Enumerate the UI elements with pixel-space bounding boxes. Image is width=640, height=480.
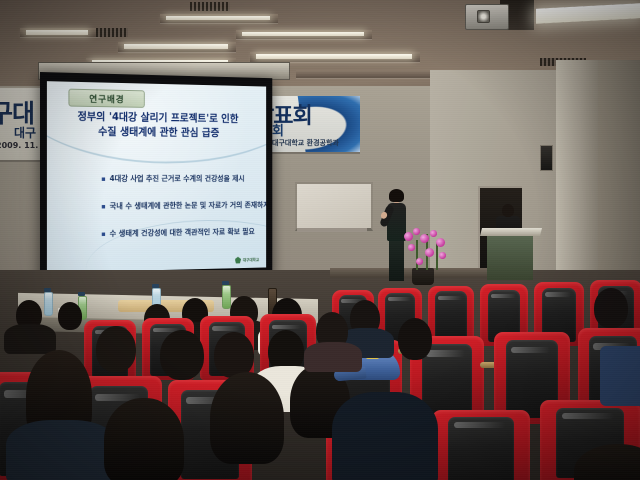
orchid-bloom (439, 252, 446, 259)
seat-highlight (212, 326, 240, 330)
projector-lens-icon (477, 10, 490, 23)
seat-highlight (545, 292, 571, 296)
orchid-bloom (413, 228, 420, 235)
audience-head (58, 302, 82, 330)
audience-head (398, 318, 432, 360)
seat-highlight (562, 413, 614, 419)
orchid-pot (412, 268, 434, 285)
audience-shoulders (6, 420, 118, 480)
orchid-stem (416, 240, 418, 270)
ceiling-light (166, 16, 270, 20)
banner-right-org: 대구대학교 환경공학과 (272, 138, 339, 148)
seat-highlight (388, 297, 411, 301)
ceiling-light (256, 54, 412, 59)
orchid-bloom (408, 244, 415, 251)
audience-shoulders (332, 392, 438, 480)
projection-screen: 연구배경 정부의 '4대강 살리기 프로젝트'로 인한 수질 생태계에 관한 관… (40, 72, 272, 282)
lecture-hall-photo: 구대 대구 2009. 11. 20(금) 발표회 표회 대구대학교 환경공학과… (0, 0, 640, 480)
seat-highlight (438, 296, 462, 300)
bottle-cap (222, 281, 229, 285)
slide-title-line-1: 정부의 '4대강 살리기 프로젝트'로 인한 (47, 109, 266, 127)
audience-head (160, 330, 204, 380)
slide-section-tag: 연구배경 (68, 89, 144, 108)
orchid-bloom (404, 232, 413, 241)
bottle-cap (152, 284, 159, 288)
ceiling-vent (190, 2, 230, 11)
ceiling-panel (296, 70, 446, 78)
orchid-plant (392, 228, 454, 286)
slide-logo-label: 대구대학교 (243, 257, 259, 263)
audience-head (594, 288, 628, 328)
slide-bullet: 국내 수 생태계에 관한한 논문 및 자료가 거의 존재하지 않음 (101, 199, 266, 211)
audience-shoulders (304, 342, 362, 372)
whiteboard (295, 182, 373, 231)
audience-head (210, 372, 284, 464)
banner-left-subtitle: 대구 (14, 124, 36, 141)
orchid-bloom (420, 234, 429, 243)
slide-university-logo: 대구대학교 (235, 256, 259, 263)
slide-bullet-list: 4대강 사업 추진 근거로 수계의 건강성을 제시 국내 수 생태계에 관한한 … (63, 173, 267, 257)
slide-section-tag-label: 연구배경 (89, 92, 124, 106)
orchid-bloom (430, 230, 437, 237)
slide-bullet: 4대강 사업 추진 근거로 수계의 건강성을 제시 (101, 173, 266, 184)
audience-head (96, 326, 136, 372)
projected-slide: 연구배경 정부의 '4대강 살리기 프로젝트'로 인한 수질 생태계에 관한 관… (47, 81, 266, 273)
bottle-cap (44, 288, 51, 292)
whiteboard-tray (297, 228, 367, 232)
orchid-bloom (416, 258, 423, 265)
ceiling-light (124, 44, 228, 49)
slide-title: 정부의 '4대강 살리기 프로젝트'로 인한 수질 생태계에 관한 관심 급증 (47, 109, 266, 141)
audience-shoulders (4, 324, 56, 354)
seat[interactable] (432, 410, 530, 480)
water-bottle (44, 292, 53, 316)
presenter-hand (380, 211, 388, 220)
audience-head (104, 398, 184, 480)
ceiling-light (26, 30, 88, 35)
slide-bullet: 수 생태계 건강성에 대한 객관적인 자료 확보 필요 (101, 226, 266, 239)
bottle-cap (78, 292, 85, 296)
water-bottle (222, 285, 231, 309)
ceiling-light (242, 32, 364, 36)
seat-highlight (272, 325, 301, 330)
ceiling-vent (96, 28, 128, 37)
slide-title-line-2: 수질 생태계에 관한 관심 급증 (47, 124, 266, 141)
podium-top (480, 228, 542, 236)
podium-person-hair (502, 204, 514, 217)
seat-highlight (454, 422, 505, 427)
seat-highlight (491, 294, 516, 298)
seat-highlight (426, 350, 464, 356)
orchid-bloom (436, 238, 445, 247)
wall-speaker-icon (540, 145, 553, 171)
presenter-hair (389, 189, 404, 202)
university-logo-icon (235, 257, 241, 264)
orchid-bloom (425, 248, 434, 257)
seat-highlight (511, 347, 551, 353)
audience-seated-figure (600, 346, 640, 406)
podium (487, 233, 533, 280)
